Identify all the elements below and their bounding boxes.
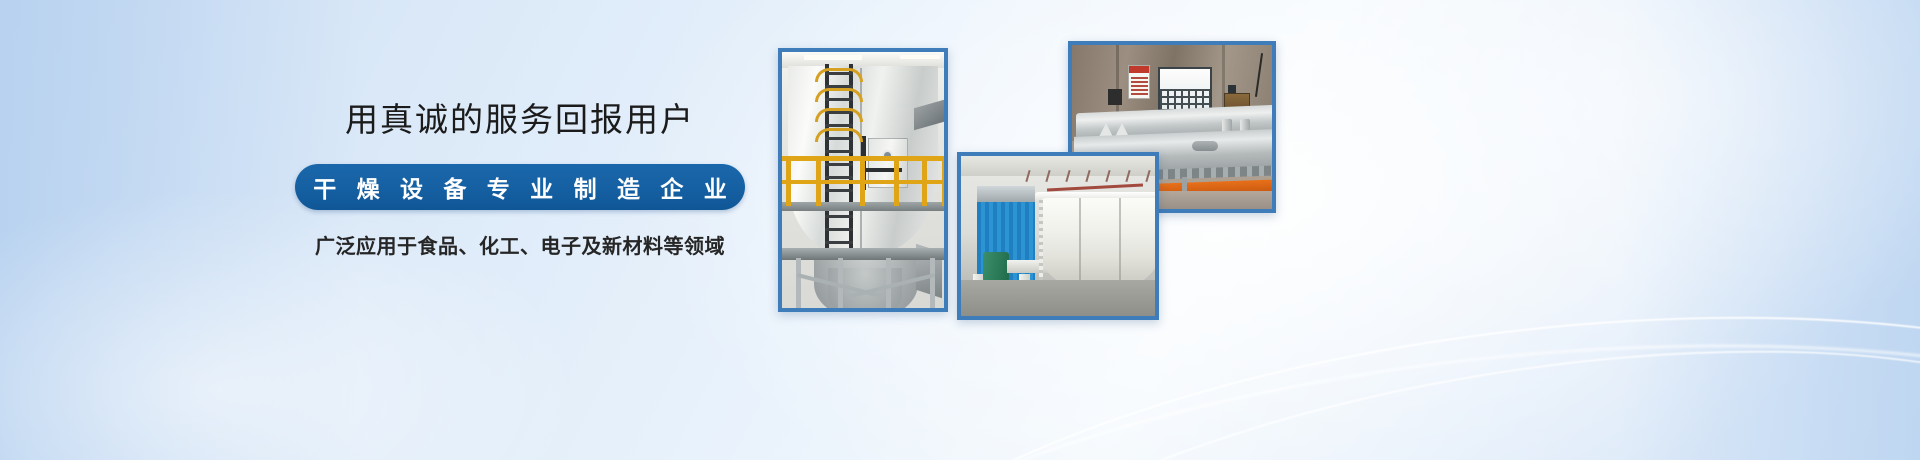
photo-card-spray-drying-tower — [778, 48, 948, 312]
wall-notice-sign — [1128, 65, 1150, 99]
ribbon-mixer-photo — [961, 156, 1155, 316]
right-glow — [1280, 0, 1920, 360]
banner-tagline-text: 干 燥 设 备 专 业 制 造 企 业 — [306, 170, 734, 204]
photo-card-ribbon-mixer — [957, 152, 1159, 320]
banner-tagline-pill: 干 燥 设 备 专 业 制 造 企 业 — [295, 164, 745, 210]
spray-dryer-photo — [782, 52, 944, 308]
promo-banner: 用真诚的服务回报用户 干 燥 设 备 专 业 制 造 企 业 广泛应用于食品、化… — [0, 0, 1920, 460]
banner-headline: 用真诚的服务回报用户 — [295, 100, 745, 140]
banner-subline: 广泛应用于食品、化工、电子及新材料等领域 — [295, 230, 745, 259]
banner-copy-block: 用真诚的服务回报用户 干 燥 设 备 专 业 制 造 企 业 广泛应用于食品、化… — [295, 100, 745, 259]
right-edge-gradient — [1620, 0, 1920, 460]
